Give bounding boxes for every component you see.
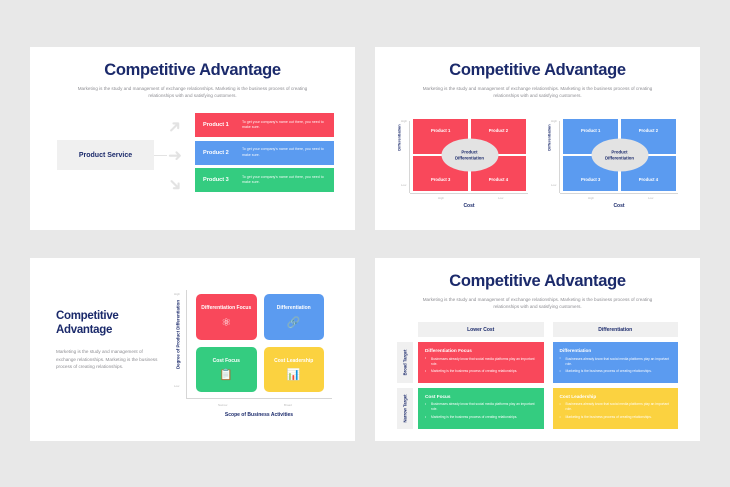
product-description: To get your company's name out there, yo… xyxy=(242,175,334,185)
y-axis-line xyxy=(186,290,187,398)
arrow-down-right-icon: ➜ xyxy=(162,172,187,197)
slide-product-service[interactable]: Competitive Advantage Marketing is the s… xyxy=(30,47,355,230)
center-ellipse: Product Differentiation xyxy=(441,139,498,172)
quadrant-chart: Degree of Product Differentiation Scope … xyxy=(168,286,336,421)
y-tick-low: Low xyxy=(174,384,179,388)
body-paragraph: Marketing is the study and management of… xyxy=(56,348,161,370)
bullet-item: Businesses already know that social medi… xyxy=(425,402,537,412)
product-name: Product 3 xyxy=(195,177,242,183)
cell-differentiation-focus[interactable]: Differentiation Focus Businesses already… xyxy=(418,342,544,383)
x-axis-label: Cost xyxy=(560,203,678,209)
matrix-red[interactable]: Differentiation Cost High Low High Low P… xyxy=(393,113,533,218)
page-title: Competitive Advantage xyxy=(375,272,700,291)
bullet-item: Businesses already know that social medi… xyxy=(560,402,672,412)
cell-cost-focus[interactable]: Cost Focus Businesses already know that … xyxy=(418,388,544,429)
link-chain-icon: 🔗 xyxy=(287,318,301,329)
cell-heading: Differentiation xyxy=(560,348,672,353)
bullet-item: Marketing is the business process of cre… xyxy=(560,415,672,420)
bullet-item: Marketing is the business process of cre… xyxy=(560,369,672,374)
arrow-right-icon: ➜ xyxy=(166,147,184,165)
x-axis-line xyxy=(186,398,332,399)
list-item[interactable]: Product 1 To get your company's name out… xyxy=(195,113,334,137)
text-column: Competitive Advantage Marketing is the s… xyxy=(56,310,161,370)
bullet-item: Businesses already know that social medi… xyxy=(425,357,537,367)
list-item[interactable]: Product 2 To get your company's name out… xyxy=(195,141,334,165)
page-title-line-1: Competitive xyxy=(56,310,161,324)
cell-heading: Cost Leadership xyxy=(560,394,672,399)
quadrant-card-grid: Differentiation Focus ⚛ Differentiation … xyxy=(196,294,324,392)
x-tick-high: High xyxy=(438,196,444,200)
page-subtitle: Marketing is the study and management of… xyxy=(417,85,659,99)
network-nodes-icon: ⚛ xyxy=(221,318,231,329)
page-title: Competitive Advantage xyxy=(30,61,355,80)
row-header-narrow-target: Narrow Target xyxy=(397,388,413,429)
bullet-item: Marketing is the business process of cre… xyxy=(425,415,537,420)
table-header-row: Lower Cost Differentiation xyxy=(418,322,678,337)
product-list: Product 1 To get your company's name out… xyxy=(195,113,334,196)
x-axis-label: Cost xyxy=(410,203,528,209)
card-label: Cost Leadership xyxy=(274,358,313,365)
row-cells: Cost Focus Businesses already know that … xyxy=(418,388,678,429)
bullet-item: Businesses already know that social medi… xyxy=(560,357,672,367)
y-tick-high: High xyxy=(551,119,557,123)
quadrant-card-cost-leadership[interactable]: Cost Leadership 📊 xyxy=(264,347,325,393)
cell-gap xyxy=(544,388,553,429)
slide-strategy-quadrants[interactable]: Competitive Advantage Marketing is the s… xyxy=(30,258,355,441)
x-axis-line xyxy=(560,193,678,194)
header-gap xyxy=(544,322,553,337)
card-label: Differentiation Focus xyxy=(201,305,251,312)
bullet-item: Marketing is the business process of cre… xyxy=(425,369,537,374)
quadrant-grid: Product 1 Product 2 Product 3 Product 4 … xyxy=(413,119,526,191)
cell-differentiation[interactable]: Differentiation Businesses already know … xyxy=(553,342,679,383)
cell-bullet-list: Businesses already know that social medi… xyxy=(560,402,672,420)
slide-strategy-table[interactable]: Competitive Advantage Marketing is the s… xyxy=(375,258,700,441)
card-label: Cost Focus xyxy=(213,358,240,365)
arrow-up-right-icon: ➜ xyxy=(162,114,187,139)
column-header-lower-cost: Lower Cost xyxy=(418,322,544,337)
cell-bullet-list: Businesses already know that social medi… xyxy=(425,402,537,420)
arrow-group: ➜ ➜ ➜ xyxy=(166,118,190,194)
center-ellipse: Product Differentiation xyxy=(591,139,648,172)
quadrant-card-differentiation-focus[interactable]: Differentiation Focus ⚛ xyxy=(196,294,257,340)
list-item[interactable]: Product 3 To get your company's name out… xyxy=(195,168,334,192)
row-header-label: Narrow Target xyxy=(403,394,408,422)
ellipse-line-2: Differentiation xyxy=(605,155,634,161)
x-tick-high: High xyxy=(588,196,594,200)
x-tick-broad: Broad xyxy=(284,403,292,407)
x-axis-label: Scope of Business Activities xyxy=(186,412,332,418)
slide-grid: Competitive Advantage Marketing is the s… xyxy=(0,0,730,487)
product-name: Product 2 xyxy=(195,150,242,156)
column-header-differentiation: Differentiation xyxy=(553,322,679,337)
row-header-label: Broad Target xyxy=(403,350,408,376)
x-tick-low: Low xyxy=(648,196,653,200)
cell-heading: Differentiation Focus xyxy=(425,348,537,353)
x-axis-line xyxy=(410,193,528,194)
strategy-table: Lower Cost Differentiation Broad Target … xyxy=(397,322,678,429)
page-subtitle: Marketing is the study and management of… xyxy=(72,85,314,99)
page-title-line-2: Advantage xyxy=(56,324,161,338)
y-tick-high: High xyxy=(174,292,180,296)
product-service-box[interactable]: Product Service xyxy=(57,140,154,170)
cell-bullet-list: Businesses already know that social medi… xyxy=(425,357,537,375)
matrix-group: Differentiation Cost High Low High Low P… xyxy=(375,113,700,225)
y-tick-low: Low xyxy=(551,183,556,187)
page-subtitle: Marketing is the study and management of… xyxy=(417,296,659,310)
cell-heading: Cost Focus xyxy=(425,394,537,399)
cell-bullet-list: Businesses already know that social medi… xyxy=(560,357,672,375)
page-title: Competitive Advantage xyxy=(375,61,700,80)
document-list-icon: 📋 xyxy=(219,370,233,381)
slide-differentiation-matrix[interactable]: Competitive Advantage Marketing is the s… xyxy=(375,47,700,230)
x-tick-narrow: Narrow xyxy=(218,403,227,407)
product-name: Product 1 xyxy=(195,122,242,128)
cell-gap xyxy=(544,342,553,383)
product-flow-diagram: Product Service ➜ ➜ ➜ Product 1 To get y… xyxy=(30,109,355,219)
quadrant-card-cost-focus[interactable]: Cost Focus 📋 xyxy=(196,347,257,393)
x-tick-low: Low xyxy=(498,196,503,200)
product-description: To get your company's name out there, yo… xyxy=(242,147,334,157)
cell-cost-leadership[interactable]: Cost Leadership Businesses already know … xyxy=(553,388,679,429)
bar-chart-hand-icon: 📊 xyxy=(287,370,301,381)
card-label: Differentiation xyxy=(277,305,311,312)
y-axis-label: Degree of Product Differentiation xyxy=(176,297,181,373)
table-row: Broad Target Differentiation Focus Busin… xyxy=(397,342,678,383)
quadrant-grid: Product 1 Product 2 Product 3 Product 4 … xyxy=(563,119,676,191)
matrix-blue[interactable]: Differentiation Cost High Low High Low P… xyxy=(543,113,683,218)
y-tick-low: Low xyxy=(401,183,406,187)
y-tick-high: High xyxy=(401,119,407,123)
product-description: To get your company's name out there, yo… xyxy=(242,120,334,130)
table-row: Narrow Target Cost Focus Businesses alre… xyxy=(397,388,678,429)
quadrant-card-differentiation[interactable]: Differentiation 🔗 xyxy=(264,294,325,340)
row-cells: Differentiation Focus Businesses already… xyxy=(418,342,678,383)
row-header-broad-target: Broad Target xyxy=(397,342,413,383)
ellipse-line-2: Differentiation xyxy=(455,155,484,161)
